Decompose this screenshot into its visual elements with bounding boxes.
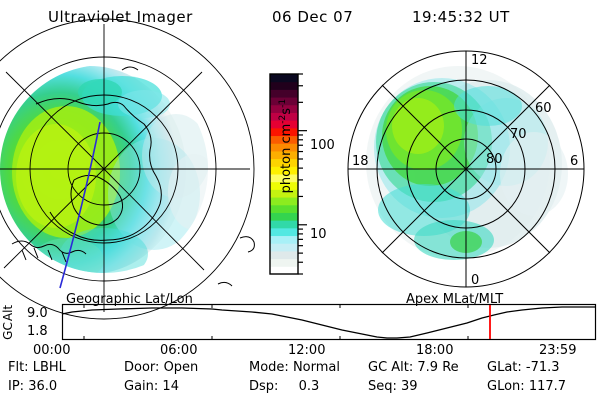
status-gcalt-value: 7.9 Re <box>417 360 458 375</box>
status-gcalt-label: GC Alt: <box>368 360 413 375</box>
status-glat: GLat: -71.3 <box>487 360 560 375</box>
status-gain-label: Gain: <box>124 379 158 394</box>
header-bar: Ultraviolet Imager 06 Dec 07 19:45:32 UT <box>0 6 600 32</box>
status-glon-value: 117.7 <box>529 379 566 394</box>
colorbar-axis-label: photon cm-2s-1 <box>278 76 294 216</box>
colorbar-label-main: photon cm <box>279 124 294 194</box>
status-mode-label: Mode: <box>249 360 289 375</box>
orbit-ytick-top: 9.0 <box>27 306 48 321</box>
status-door-value: Open <box>164 360 199 375</box>
status-seq: Seq: 39 <box>368 379 418 394</box>
orbit-axis-ticks <box>84 304 468 340</box>
mlat-label-60: 60 <box>535 101 552 116</box>
status-flt: Flt: LBHL <box>8 360 66 375</box>
status-glon: GLon: 117.7 <box>487 379 566 394</box>
time-tick-0600: 06:00 <box>160 343 197 358</box>
status-ip: IP: 36.0 <box>8 379 57 394</box>
latlon-graticule <box>0 19 254 319</box>
time-tick-0000: 00:00 <box>33 343 70 358</box>
status-glat-value: -71.3 <box>526 360 560 375</box>
status-seq-label: Seq: <box>368 379 397 394</box>
orbit-track-chart[interactable] <box>62 304 596 344</box>
status-glat-label: GLat: <box>487 360 522 375</box>
status-ip-value: 36.0 <box>28 379 57 394</box>
apex-plot[interactable]: 12 6 0 18 60 70 80 <box>338 44 594 294</box>
status-dsp-value: 0.3 <box>299 379 320 394</box>
mlat-label-70: 70 <box>510 127 527 142</box>
status-block: Flt: LBHL Door: Open Mode: Normal GC Alt… <box>0 360 600 400</box>
orbit-altitude-plot[interactable]: Alt GC 9.0 1.8 <box>0 302 600 342</box>
orbit-altitude-trace <box>62 307 595 338</box>
uvi-display-root: Ultraviolet Imager 06 Dec 07 19:45:32 UT <box>0 0 600 400</box>
colorbar-label-mid: s <box>279 108 294 115</box>
status-gain: Gain: 14 <box>124 379 179 394</box>
mlt-label-6: 6 <box>570 154 578 169</box>
status-ip-label: IP: <box>8 379 24 394</box>
mlt-label-18: 18 <box>352 154 369 169</box>
time-axis: 00:00 06:00 12:00 18:00 23:59 <box>0 343 600 359</box>
status-door: Door: Open <box>124 360 198 375</box>
geographic-panel[interactable] <box>4 44 262 294</box>
apex-aurora-field <box>366 66 568 260</box>
status-glon-label: GLon: <box>487 379 525 394</box>
colorbar-label-exp1: -2 <box>278 115 288 124</box>
time-tick-2359: 23:59 <box>539 343 576 358</box>
mlat-label-80: 80 <box>486 152 503 167</box>
colorbar-tick-100: 100 <box>310 138 335 153</box>
colorbar-group[interactable]: photon cm-2s-1 100 10 <box>262 56 338 292</box>
status-seq-value: 39 <box>401 379 418 394</box>
apex-polar-grid <box>348 51 584 287</box>
status-gain-value: 14 <box>162 379 179 394</box>
status-dsp: Dsp: 0.3 <box>249 379 319 394</box>
colorbar-tick-10: 10 <box>310 227 327 242</box>
observation-date: 06 Dec 07 <box>272 8 353 26</box>
mlt-label-12: 12 <box>471 53 488 68</box>
status-dsp-label: Dsp: <box>249 379 278 394</box>
orbit-ytick-bottom: 1.8 <box>27 324 48 339</box>
colorbar-label-exp2: -1 <box>278 99 288 108</box>
mlt-label-0: 0 <box>471 273 479 288</box>
geographic-plot[interactable] <box>4 44 262 294</box>
status-gcalt: GC Alt: 7.9 Re <box>368 360 459 375</box>
status-door-label: Door: <box>124 360 159 375</box>
colorbar-ticks <box>298 74 307 274</box>
status-flt-label: Flt: <box>8 360 29 375</box>
time-tick-1200: 12:00 <box>288 343 325 358</box>
status-mode-value: Normal <box>293 360 340 375</box>
status-flt-value: LBHL <box>33 360 66 375</box>
time-tick-1800: 18:00 <box>416 343 453 358</box>
apex-panel[interactable]: 12 6 0 18 60 70 80 <box>338 44 594 294</box>
observation-time: 19:45:32 UT <box>412 8 510 26</box>
status-mode: Mode: Normal <box>249 360 340 375</box>
